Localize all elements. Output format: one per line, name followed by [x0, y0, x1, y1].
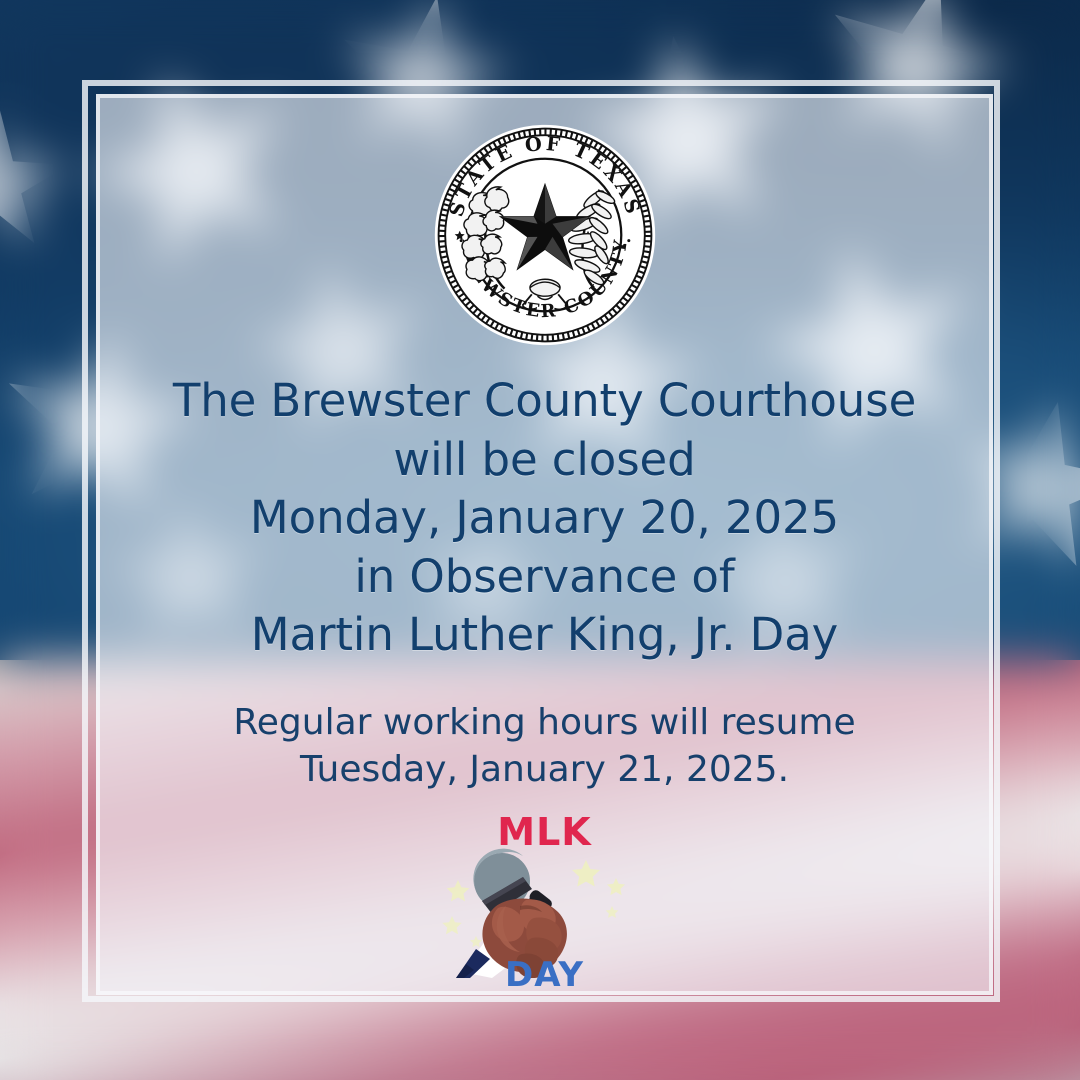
- notice-graphic: STATE OF TEXAS BREWSTER COUNTY: [0, 0, 1080, 1080]
- main-message: The Brewster County Courthouse will be c…: [173, 372, 916, 665]
- texas-brewster-county-seal-icon: STATE OF TEXAS BREWSTER COUNTY: [432, 122, 658, 348]
- resume-message: Regular working hours will resume Tuesda…: [233, 699, 855, 794]
- main-message-line: in Observance of: [173, 548, 916, 607]
- resume-message-line: Regular working hours will resume: [233, 699, 855, 747]
- mlk-subtitle-text: DAY: [440, 955, 650, 995]
- mlk-day-emblem: MLK: [440, 810, 650, 995]
- resume-message-line: Tuesday, January 21, 2025.: [233, 746, 855, 794]
- notice-content: STATE OF TEXAS BREWSTER COUNTY: [96, 94, 993, 995]
- main-message-line: Martin Luther King, Jr. Day: [173, 606, 916, 665]
- main-message-line: The Brewster County Courthouse: [173, 372, 916, 431]
- main-message-line: Monday, January 20, 2025: [173, 489, 916, 548]
- main-message-line: will be closed: [173, 431, 916, 490]
